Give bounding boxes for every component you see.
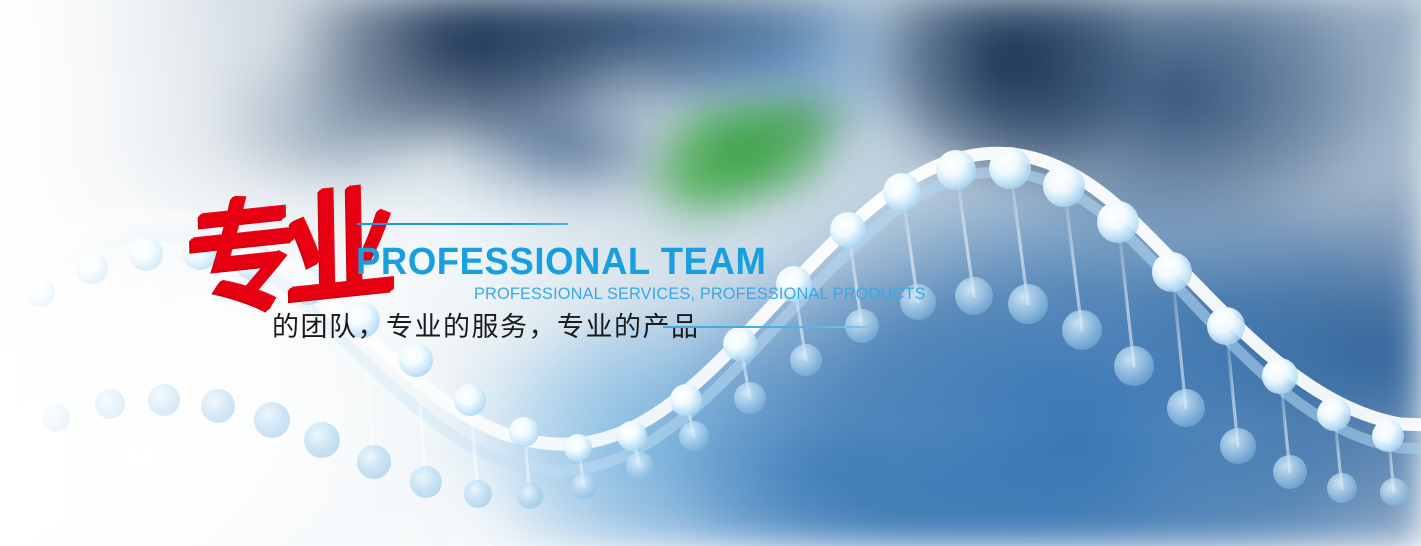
professional-team-banner: 专业 PROFESSIONAL TEAM PROFESSIONAL SERVIC…: [0, 0, 1421, 546]
tagline-chinese: 的团队，专业的服务，专业的产品: [272, 305, 700, 344]
page-title: PROFESSIONAL TEAM: [356, 241, 766, 284]
divider-line-top: [357, 223, 568, 225]
banner-content: 专业 PROFESSIONAL TEAM PROFESSIONAL SERVIC…: [0, 0, 1421, 546]
page-subtitle: PROFESSIONAL SERVICES, PROFESSIONAL PROD…: [474, 285, 926, 304]
divider-line-bottom: [663, 326, 872, 328]
